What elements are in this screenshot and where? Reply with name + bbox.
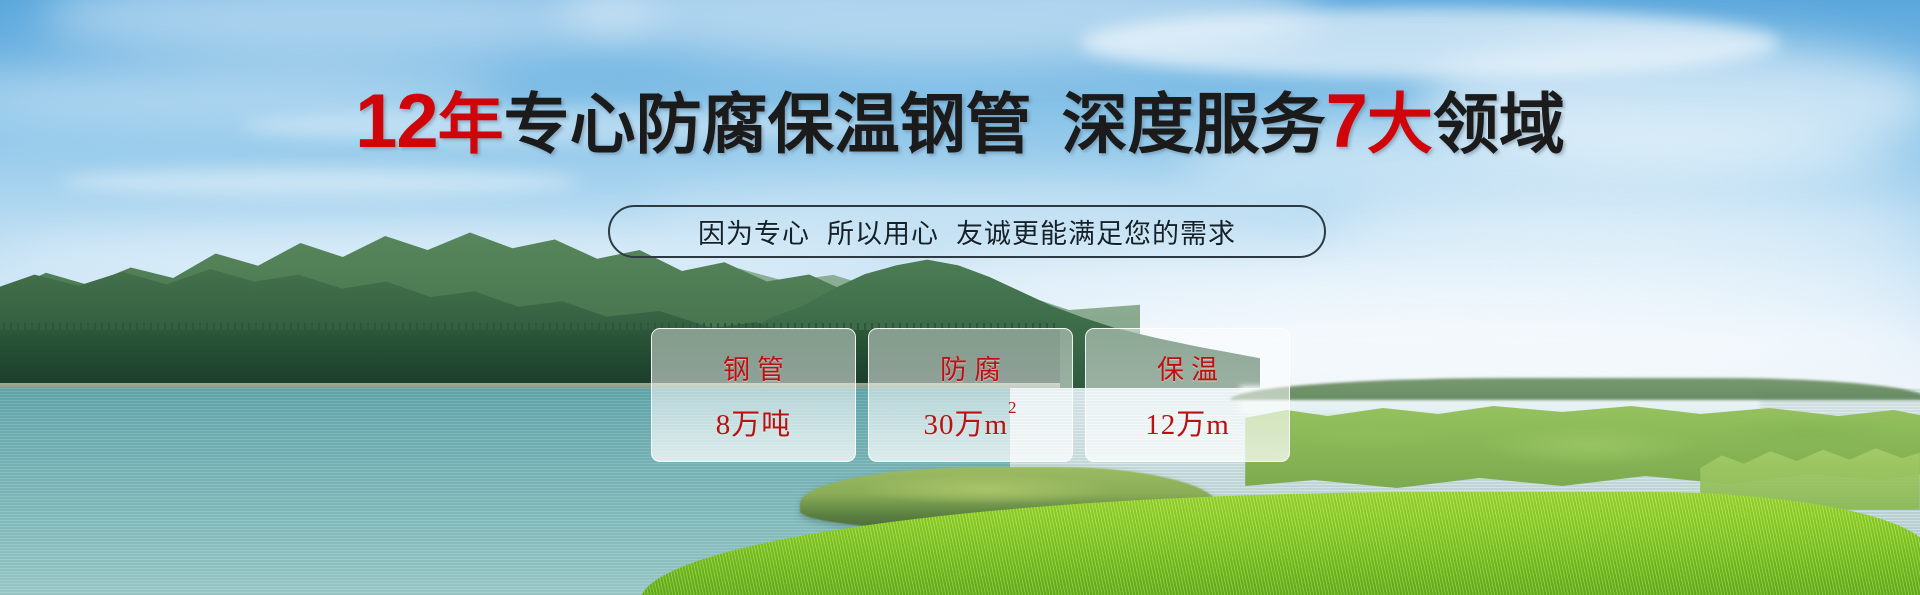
cloud-wisp	[60, 168, 580, 196]
stat-card-anticorrosion: 防腐 30万m2	[868, 328, 1073, 462]
headline-main-text: 专心防腐保温钢管	[504, 87, 1032, 161]
subtitle-part-1: 因为专心	[698, 212, 810, 251]
stat-card-value: 30万m2	[923, 401, 1017, 443]
subtitle-pill: 因为专心所以用心友诚更能满足您的需求	[608, 205, 1326, 258]
headline-years-unit: 年	[438, 87, 504, 161]
stat-card-value-main: 8万吨	[716, 409, 792, 441]
subtitle-part-3: 友诚更能满足您的需求	[956, 212, 1236, 251]
stat-card-group: 钢管 8万吨 防腐 30万m2 保温 12万m	[651, 328, 1290, 462]
headline-service-text: 深度服务	[1062, 87, 1326, 161]
headline-fields-text: 领域	[1433, 87, 1565, 161]
stat-card-steel-pipe: 钢管 8万吨	[651, 328, 856, 462]
stat-card-insulation: 保温 12万m	[1085, 328, 1290, 462]
subtitle-part-2: 所以用心	[827, 212, 939, 251]
stat-card-label: 防腐	[933, 348, 1008, 387]
stat-card-label: 保温	[1150, 348, 1225, 387]
stat-card-label: 钢管	[716, 348, 791, 387]
stat-card-value: 8万吨	[716, 401, 792, 443]
headline-years-number: 12	[355, 79, 438, 164]
headline-fields-number: 7	[1326, 79, 1367, 164]
stat-card-value-main: 30万m	[923, 409, 1008, 441]
promo-banner: 12年专心防腐保温钢管深度服务7大领域 因为专心所以用心友诚更能满足您的需求 钢…	[0, 0, 1920, 595]
stat-card-value-main: 12万m	[1145, 409, 1230, 441]
stat-card-value-superscript: 2	[1008, 398, 1018, 417]
banner-headline: 12年专心防腐保温钢管深度服务7大领域	[0, 84, 1920, 160]
stat-card-value: 12万m	[1145, 401, 1230, 443]
headline-fields-unit: 大	[1367, 87, 1433, 161]
